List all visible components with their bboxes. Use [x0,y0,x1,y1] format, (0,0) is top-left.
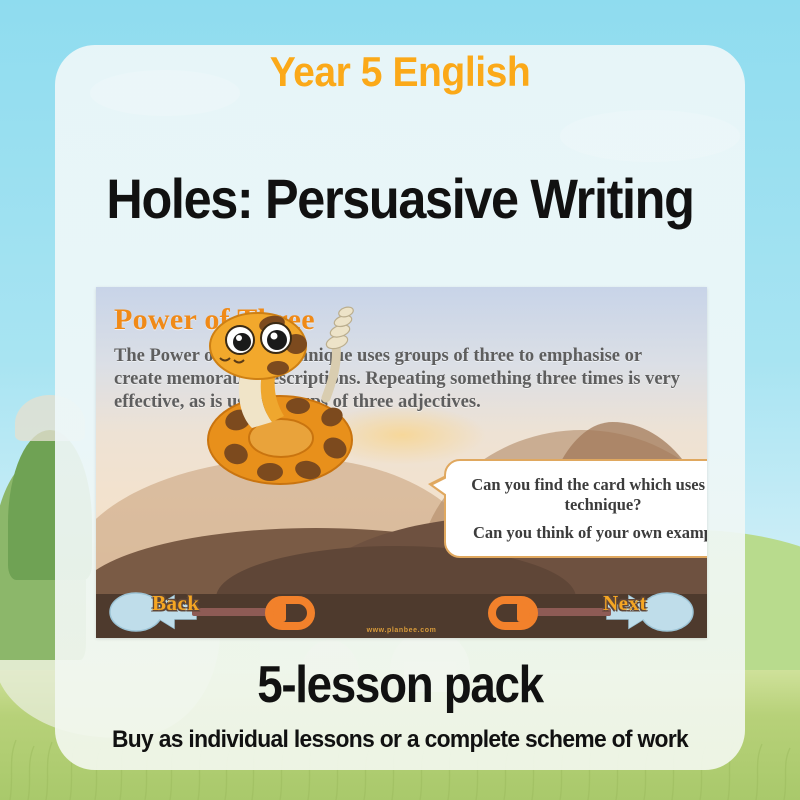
bubble-line-2: Can you think of your own example? [473,523,707,543]
back-button-label[interactable]: Back [152,591,200,616]
watermark: www.planbee.com [96,627,707,634]
pack-subline: Buy as individual lessons or a complete … [53,726,747,754]
speech-bubble: Can you find the card which uses this te… [444,459,707,558]
pack-label: 5-lesson pack [96,655,703,715]
bubble-tail-inner-icon [433,478,447,495]
lesson-slide-preview[interactable]: Power of Three The Power of Three techni… [96,287,707,638]
rattlesnake-icon [180,302,370,492]
next-button-label[interactable]: Next [603,591,647,616]
page-title: Holes: Persuasive Writing [90,166,711,231]
slide-navigation: Back Next www.planbee.com [96,586,707,638]
bubble-line-1: Can you find the card which uses this te… [458,475,707,515]
promo-card-image: Year 5 English Holes: Persuasive Writing… [0,0,800,800]
subject-heading: Year 5 English [79,48,721,96]
